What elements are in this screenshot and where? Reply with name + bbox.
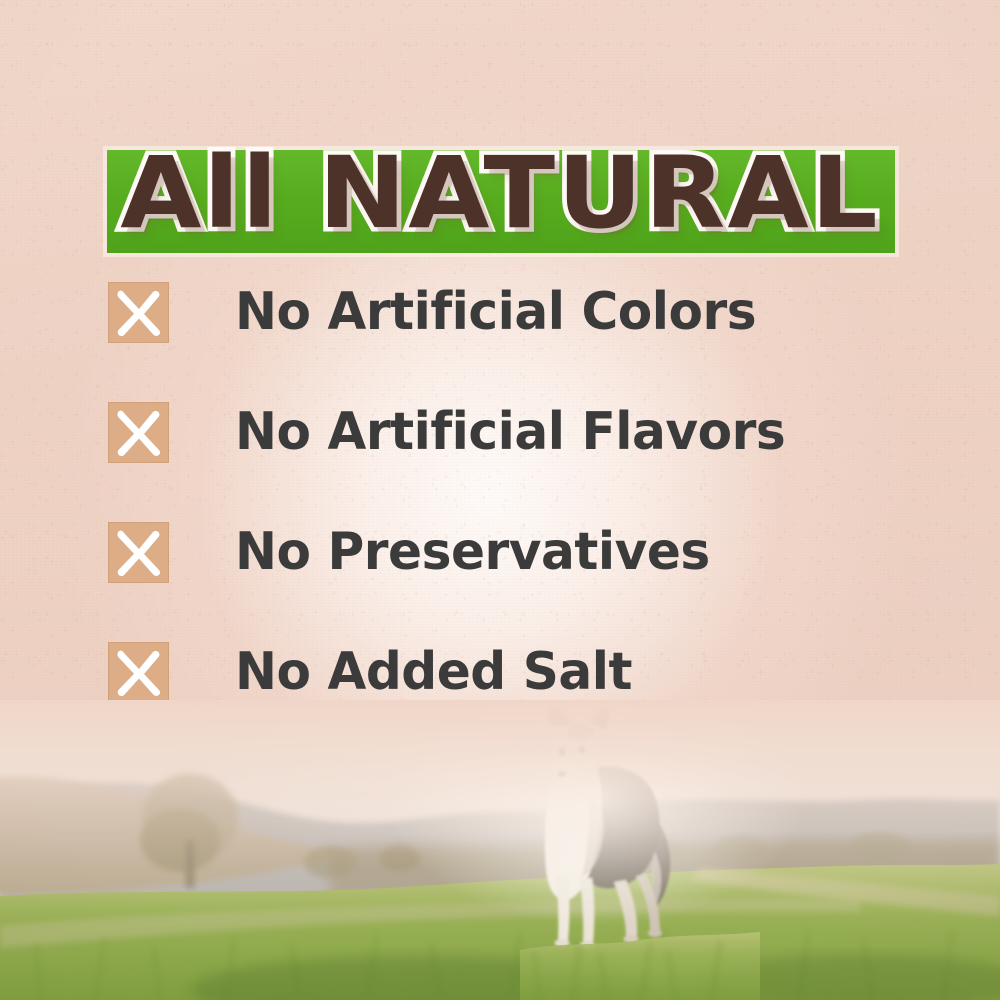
x-mark-icon [108,642,169,703]
page-title: All NATURAL [0,144,1000,243]
list-item-label: No Added Salt [235,646,632,698]
x-mark-icon [108,282,169,343]
list-item-label: No Artificial Flavors [235,406,785,458]
list-item: No Artificial Flavors [108,372,938,492]
border-collie-in-grassy-field-photo [0,700,1000,1000]
x-mark-icon [108,522,169,583]
list-item: No Artificial Colors [108,252,938,372]
benefits-list: No Artificial Colors No Artificial Flavo… [108,252,938,732]
list-item: No Preservatives [108,492,938,612]
x-mark-icon [108,402,169,463]
headline-banner: All NATURAL [0,74,1000,194]
list-item-label: No Preservatives [235,526,710,578]
list-item-label: No Artificial Colors [235,286,756,338]
all-natural-product-claims-poster: All NATURAL No Artificial Colors No Arti… [0,0,1000,1000]
